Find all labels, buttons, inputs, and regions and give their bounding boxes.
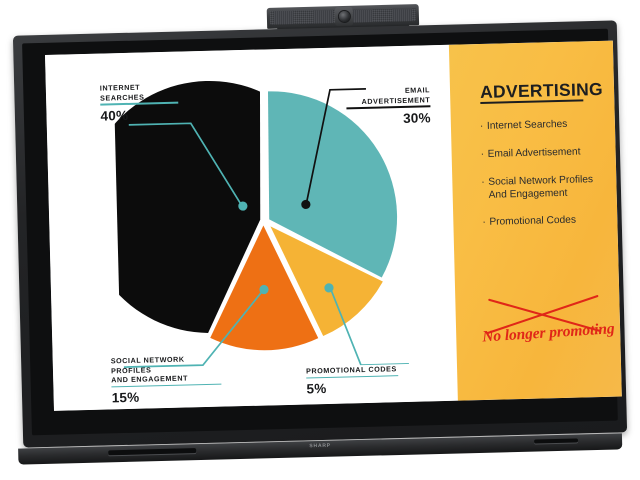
callout-title: INTERNET SEARCHES [100,82,178,103]
list-item[interactable]: · Social Network Profiles And Engagement [481,173,618,202]
advertising-panel: ADVERTISING · Internet Searches · Email … [463,41,622,401]
list-item-struck[interactable]: · Promotional Codes [482,213,618,229]
list-item-label-cont: And Engagement [489,186,618,202]
list-item[interactable]: · Internet Searches [480,117,616,133]
advertising-bullet-list: · Internet Searches · Email Advertisemen… [480,117,619,244]
list-item-label: Email Advertisement [488,146,581,159]
camera-lens-icon [338,11,349,22]
callout-percent: 30% [347,110,431,127]
bezel-vent-left [108,448,196,455]
callout-internet-searches: INTERNET SEARCHES 40% [100,82,179,124]
list-item-label: Social Network Profiles [488,174,593,188]
list-item-label: Promotional Codes [489,215,576,228]
brand-logo: SHARP [309,443,331,450]
callout-percent: 5% [306,379,398,396]
bullet-dot-icon: · [481,176,485,189]
callout-percent: 15% [112,388,222,406]
bullet-dot-icon: · [480,120,484,133]
screenshot-stage: INTERNET SEARCHES 40% EMAIL ADVERTISEMEN… [0,0,640,480]
callout-social-network: SOCIAL NETWORK PROFILES AND ENGAGEMENT 1… [111,354,222,406]
display-screen[interactable]: INTERNET SEARCHES 40% EMAIL ADVERTISEMEN… [45,41,622,411]
callout-title: SOCIAL NETWORK PROFILES AND ENGAGEMENT [111,354,222,385]
callout-email-advertisement: EMAIL ADVERTISEMENT 30% [346,85,431,127]
interactive-display-device: INTERNET SEARCHES 40% EMAIL ADVERTISEMEN… [18,28,622,448]
bullet-dot-icon: · [480,148,484,161]
callout-title: EMAIL ADVERTISEMENT [346,85,430,106]
camera-housing [335,7,353,26]
callout-percent: 40% [100,106,178,123]
callout-promotional-codes: PROMOTIONAL CODES 5% [306,364,399,396]
bullet-dot-icon: · [482,216,486,229]
list-item[interactable]: · Email Advertisement [480,145,616,161]
list-item-label: Internet Searches [487,119,568,132]
page-title: ADVERTISING [480,79,603,103]
bezel-vent-right [534,438,578,443]
